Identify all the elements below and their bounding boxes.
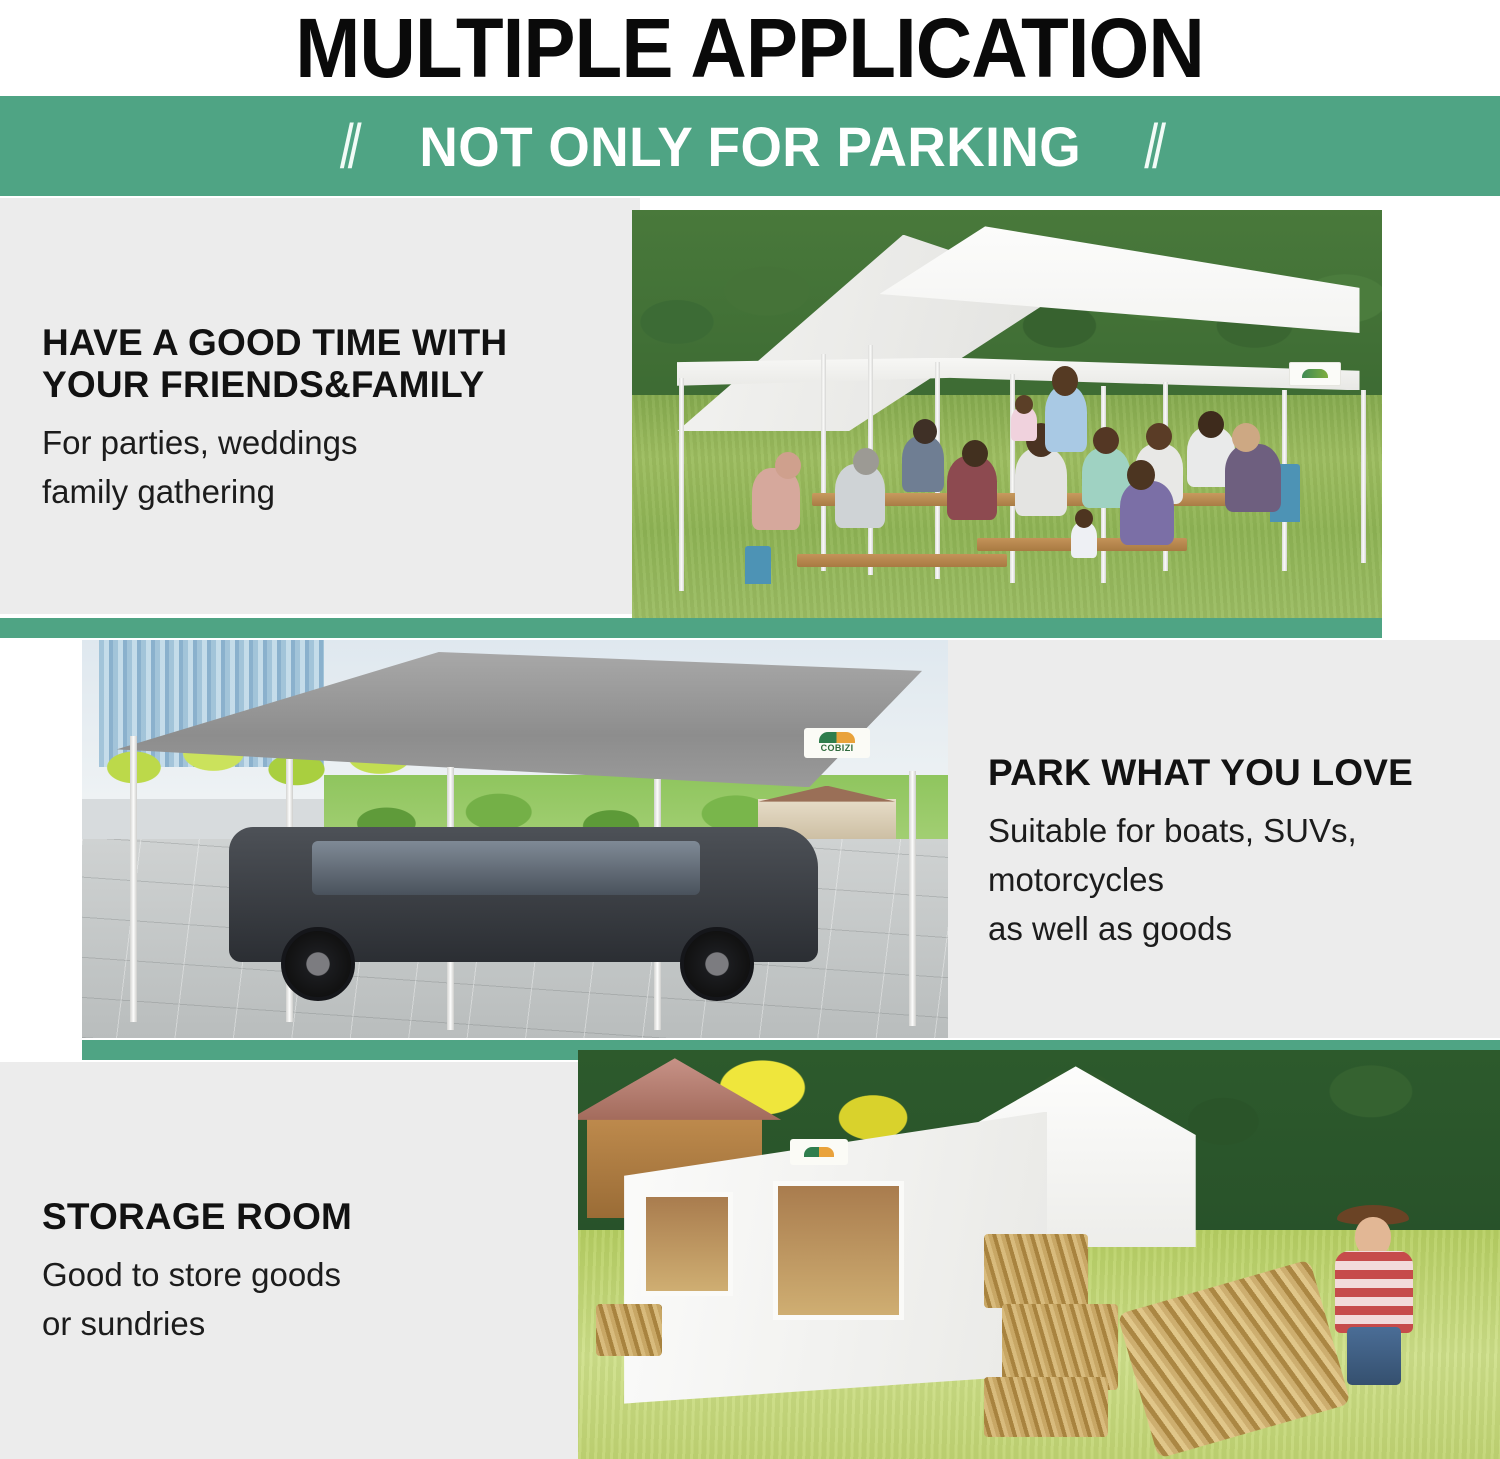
section-divider-1	[0, 618, 1382, 638]
canopy-leg	[821, 354, 826, 571]
person-head	[1127, 460, 1155, 490]
subtitle-banner-text: NOT ONLY FOR PARKING	[375, 114, 1124, 179]
canopy-leg	[679, 378, 684, 591]
hay-bale	[984, 1234, 1088, 1308]
bench	[797, 554, 1007, 567]
cobizi-logo-icon	[1289, 362, 1341, 386]
plaid-shirt	[1335, 1251, 1413, 1333]
cobizi-logo-icon: COBIZI	[804, 728, 870, 758]
person	[835, 464, 885, 528]
page-title-text: MULTIPLE APPLICATION	[296, 6, 1205, 90]
section-2-photo: COBIZI	[82, 640, 948, 1038]
hay-bale	[596, 1304, 662, 1356]
person-head	[1232, 423, 1260, 452]
section-2-text-block: PARK WHAT YOU LOVE Suitable for boats, S…	[988, 752, 1488, 953]
canopy-leg	[1361, 390, 1366, 562]
suv-rear-wheel	[680, 927, 754, 1001]
tent-window	[773, 1181, 904, 1320]
section-2-sub-line2: motorcycles	[988, 857, 1488, 904]
section-2-heading-line1: PARK WHAT YOU LOVE	[988, 752, 1488, 794]
suv-windows	[312, 841, 701, 895]
jeans	[1347, 1327, 1401, 1385]
section-3-heading-line1: STORAGE ROOM	[42, 1196, 562, 1238]
section-3-sub-line2: or sundries	[42, 1301, 562, 1348]
person-head	[853, 448, 879, 475]
hay-bale	[984, 1377, 1108, 1437]
section-1-photo	[632, 210, 1382, 620]
person-standing	[1045, 386, 1087, 452]
section-1-sub-line2: family gathering	[42, 469, 612, 516]
person-head	[1052, 366, 1078, 396]
person	[1225, 444, 1281, 512]
person	[1015, 448, 1067, 516]
child-head	[1075, 509, 1093, 528]
section-3-sub-line1: Good to store goods	[42, 1252, 562, 1299]
person-head	[1198, 411, 1224, 438]
slash-left-icon: //	[340, 110, 356, 183]
section-1-text-block: HAVE A GOOD TIME WITH YOUR FRIENDS&FAMIL…	[42, 322, 612, 516]
page-title: MULTIPLE APPLICATION	[0, 0, 1500, 96]
section-2-sub-line3: as well as goods	[988, 906, 1488, 953]
suv-front-wheel	[281, 927, 355, 1001]
child-head	[1015, 395, 1033, 414]
cobizi-logo-icon	[790, 1139, 848, 1165]
carport-leg	[130, 736, 137, 1023]
person-head	[1146, 423, 1172, 450]
tent-window	[641, 1192, 732, 1296]
section-3-text-block: STORAGE ROOM Good to store goods or sund…	[42, 1196, 562, 1348]
section-1-sub-line1: For parties, weddings	[42, 420, 612, 467]
slash-right-icon: //	[1144, 110, 1160, 183]
person-head	[962, 440, 988, 467]
carport-leg	[909, 771, 916, 1026]
farmer-person	[1331, 1205, 1417, 1385]
person-head	[775, 452, 801, 479]
cobizi-logo-text: COBIZI	[821, 743, 854, 753]
section-1-heading-line1: HAVE A GOOD TIME WITH	[42, 322, 612, 364]
infographic-page: MULTIPLE APPLICATION // NOT ONLY FOR PAR…	[0, 0, 1500, 1459]
section-3-photo	[578, 1050, 1500, 1459]
section-2-sub-line1: Suitable for boats, SUVs,	[988, 808, 1488, 855]
section-1-heading-line2: YOUR FRIENDS&FAMILY	[42, 364, 612, 406]
person	[1120, 481, 1174, 545]
blue-chair	[745, 546, 771, 584]
subtitle-banner: // NOT ONLY FOR PARKING //	[0, 96, 1500, 196]
